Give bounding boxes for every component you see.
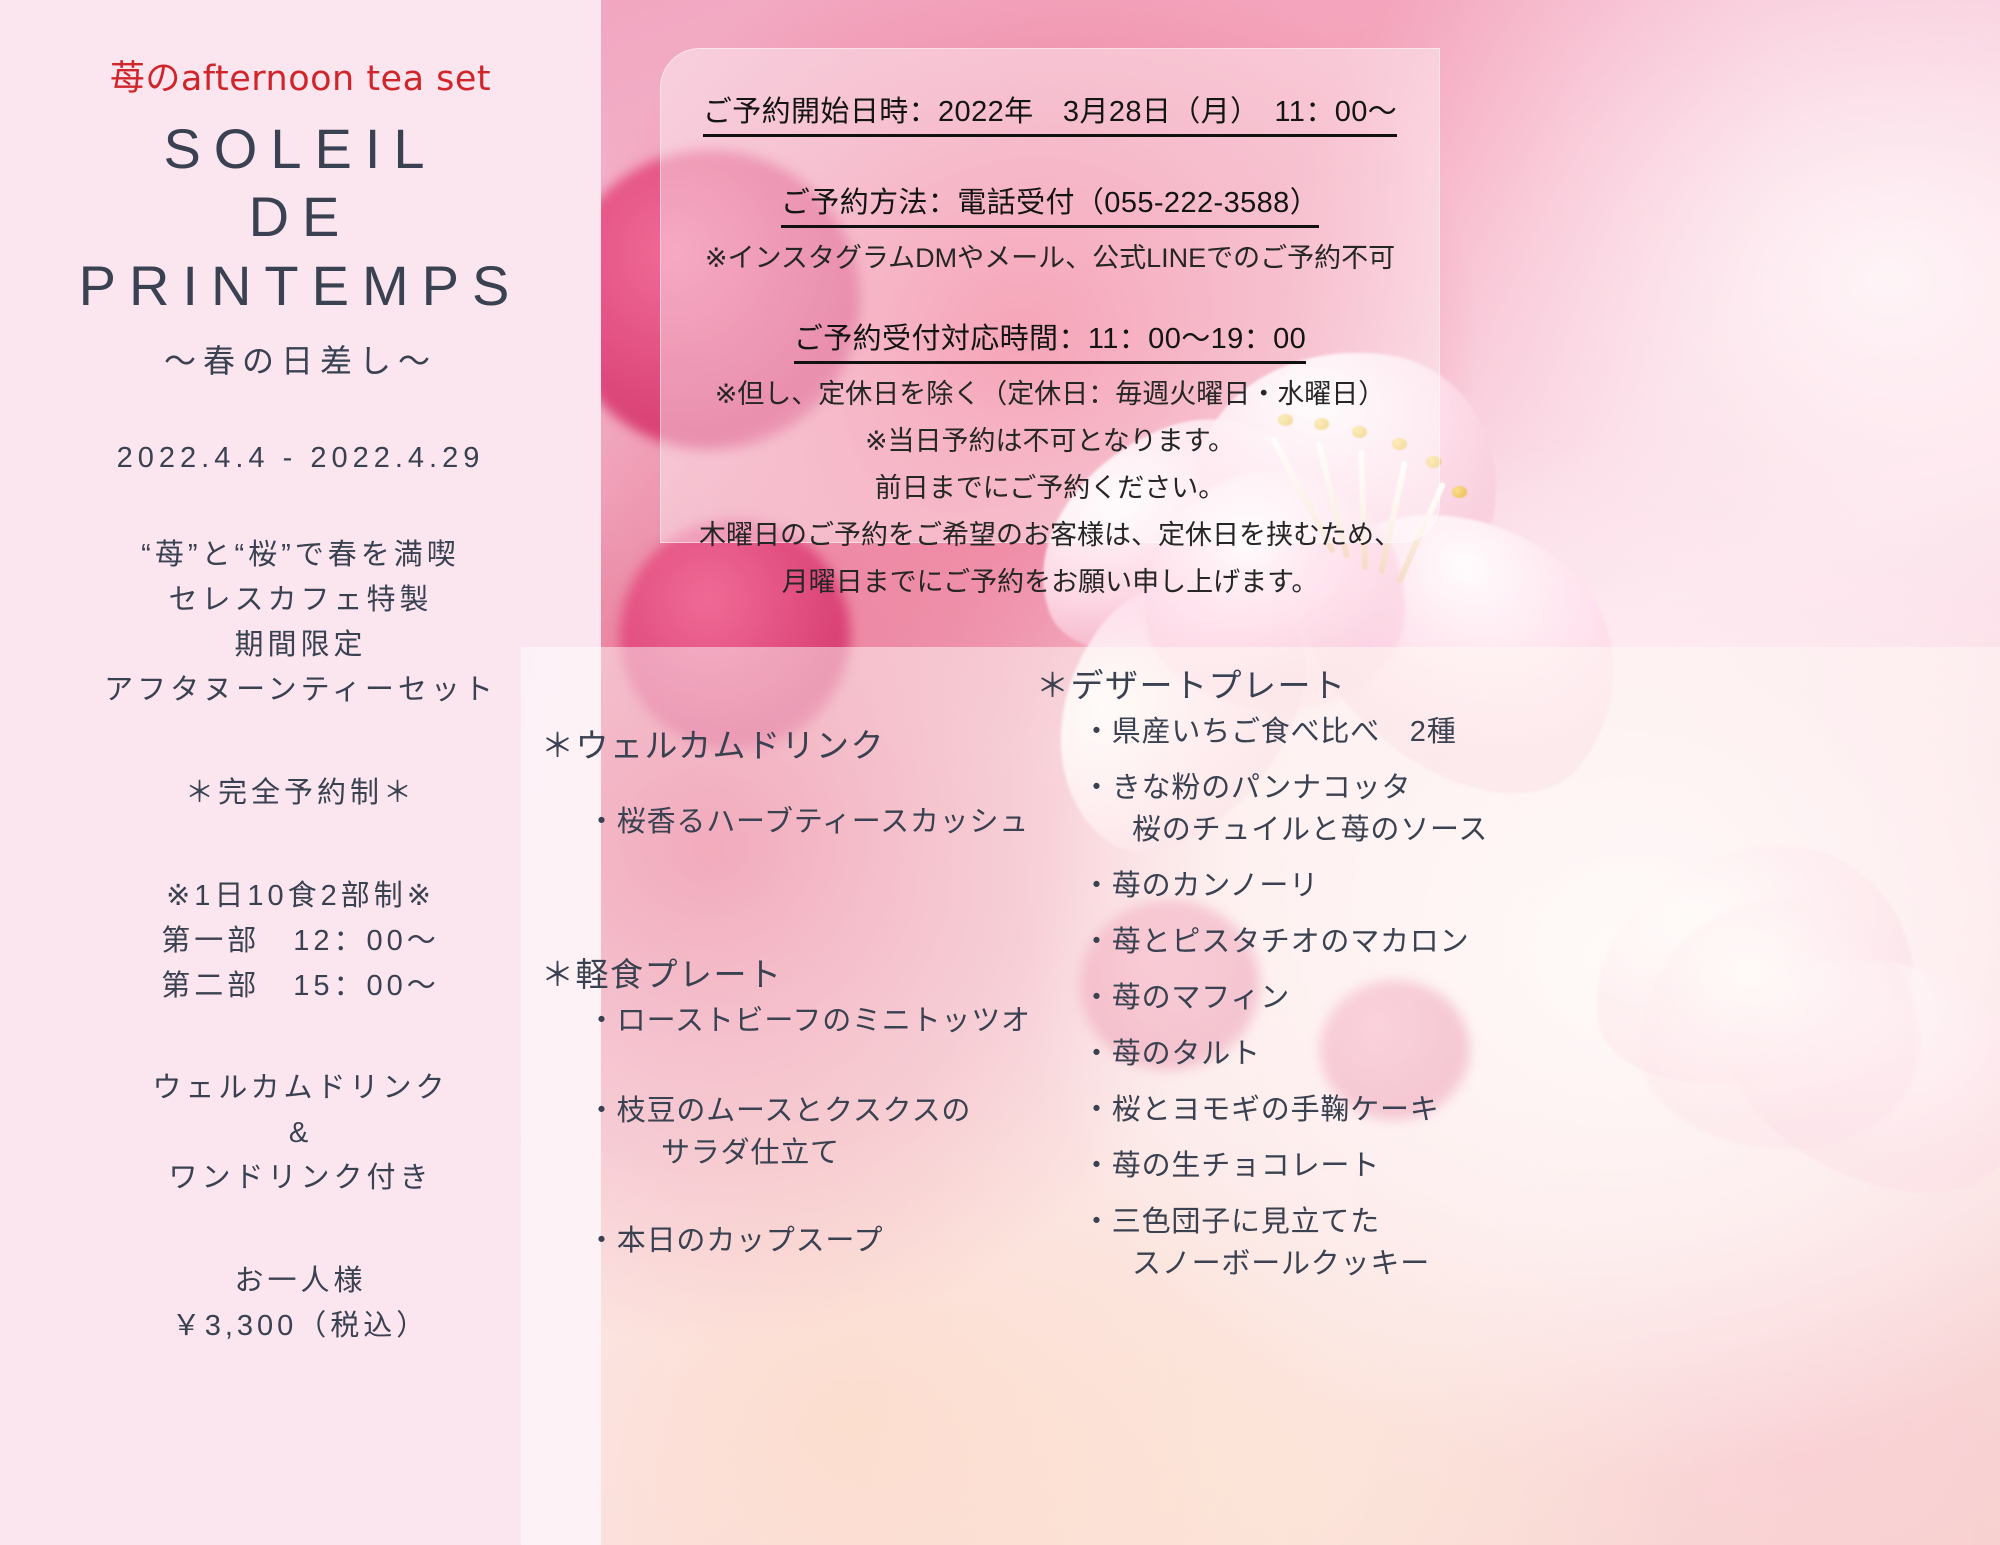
- menu-panel: ＊ウェルカムドリンク ・桜香るハーブティースカッシュ ＊軽食プレート ・ロースト…: [521, 647, 2000, 1545]
- brand-line-1: SOLEIL: [0, 115, 601, 183]
- brand-name: SOLEIL DE PRINTEMPS: [0, 115, 601, 320]
- dessert-item-9-cont: スノーボールクッキー: [1036, 1243, 1596, 1285]
- dessert-heading: ＊デザートプレート: [1036, 659, 1596, 707]
- dessert-item-1: ・県産いちご食べ比べ 2種: [1036, 711, 1596, 753]
- reservation-panel: ご予約開始日時：2022年 3月28日（月） 11：00〜 ご予約方法：電話受付…: [660, 48, 1440, 543]
- reservation-hours-text: ご予約受付対応時間：11：00〜19：00: [794, 315, 1306, 364]
- reservation-note-3: 前日までにご予約ください。: [686, 466, 1414, 505]
- light-meal-item-2: ・枝豆のムースとクスクスの: [541, 1090, 1061, 1132]
- welcome-drink-heading: ＊ウェルカムドリンク: [541, 719, 1061, 767]
- light-meal-item-2-cont: サラダ仕立て: [541, 1132, 1061, 1174]
- dessert-item-2: ・きな粉のパンナコッタ: [1036, 767, 1596, 809]
- dessert-item-9: ・三色団子に見立てた: [1036, 1201, 1596, 1243]
- left-info-column: 苺のafternoon tea set SOLEIL DE PRINTEMPS …: [0, 0, 601, 1545]
- brand-line-3: PRINTEMPS: [0, 252, 601, 320]
- included-drink-2: ワンドリンク付き: [0, 1156, 601, 1201]
- reservation-start-text: ご予約開始日時：2022年 3月28日（月） 11：00〜: [703, 88, 1397, 137]
- menu-column-right: ＊デザートプレート ・県産いちご食べ比べ 2種 ・きな粉のパンナコッタ 桜のチュ…: [1036, 647, 1596, 1286]
- anther-6: [1452, 486, 1467, 498]
- welcome-drink-item-1: ・桜香るハーブティースカッシュ: [541, 801, 1061, 843]
- menu-column-left: ＊ウェルカムドリンク ・桜香るハーブティースカッシュ ＊軽食プレート ・ロースト…: [541, 671, 1061, 1262]
- dessert-item-7: ・桜とヨモギの手鞠ケーキ: [1036, 1089, 1596, 1131]
- reservation-only-note: ＊完全予約制＊: [0, 771, 601, 816]
- reservation-method-line: ご予約方法：電話受付（055-222-3588）: [686, 179, 1414, 228]
- brand-subtitle: 〜春の日差し〜: [0, 336, 601, 382]
- dessert-item-6: ・苺のタルト: [1036, 1033, 1596, 1075]
- tagline-2: セレスカフェ特製: [0, 578, 601, 623]
- reservation-start-line: ご予約開始日時：2022年 3月28日（月） 11：00〜: [686, 88, 1414, 137]
- dessert-item-4: ・苺とピスタチオのマカロン: [1036, 921, 1596, 963]
- reservation-note-4: 木曜日のご予約をご希望のお客様は、定休日を挟むため、: [686, 513, 1414, 552]
- light-meal-item-1: ・ローストビーフのミニトッツオ: [541, 1000, 1061, 1042]
- price-label: お一人様: [0, 1259, 601, 1304]
- tagline-3: 期間限定: [0, 623, 601, 668]
- poster-root: 苺のafternoon tea set SOLEIL DE PRINTEMPS …: [0, 0, 2000, 1545]
- reservation-hours-line: ご予約受付対応時間：11：00〜19：00: [686, 315, 1414, 364]
- date-range: 2022.4.4 - 2022.4.29: [0, 442, 601, 475]
- seats-note: ※1日10食2部制※: [0, 874, 601, 919]
- light-meal-item-3: ・本日のカップスープ: [541, 1220, 1061, 1262]
- session-2: 第二部 15：00〜: [0, 964, 601, 1009]
- reservation-note-1: ※但し、定休日を除く（定休日：毎週火曜日・水曜日）: [686, 372, 1414, 411]
- reservation-note-2: ※当日予約は不可となります。: [686, 419, 1414, 458]
- dessert-item-8: ・苺の生チョコレート: [1036, 1145, 1596, 1187]
- included-drink-amp: &: [0, 1111, 601, 1156]
- lead-text: 苺のafternoon tea set: [0, 50, 601, 101]
- tagline-1: “苺”と“桜”で春を満喫: [0, 533, 601, 578]
- included-drink-1: ウェルカムドリンク: [0, 1066, 601, 1111]
- reservation-method-note: ※インスタグラムDMやメール、公式LINEでのご予約不可: [686, 236, 1414, 275]
- price-value: ￥3,300（税込）: [0, 1304, 601, 1349]
- dessert-item-3: ・苺のカンノーリ: [1036, 865, 1596, 907]
- spacer-1: [686, 137, 1414, 179]
- reservation-method-text: ご予約方法：電話受付（055-222-3588）: [781, 179, 1319, 228]
- light-meal-heading: ＊軽食プレート: [541, 948, 1061, 996]
- dessert-item-2-cont: 桜のチュイルと苺のソース: [1036, 809, 1596, 851]
- dessert-item-5: ・苺のマフィン: [1036, 977, 1596, 1019]
- tagline-4: アフタヌーンティーセット: [0, 668, 601, 713]
- spacer-2: [686, 275, 1414, 315]
- reservation-note-5: 月曜日までにご予約をお願い申し上げます。: [686, 560, 1414, 599]
- brand-line-2: DE: [0, 183, 601, 251]
- session-1: 第一部 12：00〜: [0, 919, 601, 964]
